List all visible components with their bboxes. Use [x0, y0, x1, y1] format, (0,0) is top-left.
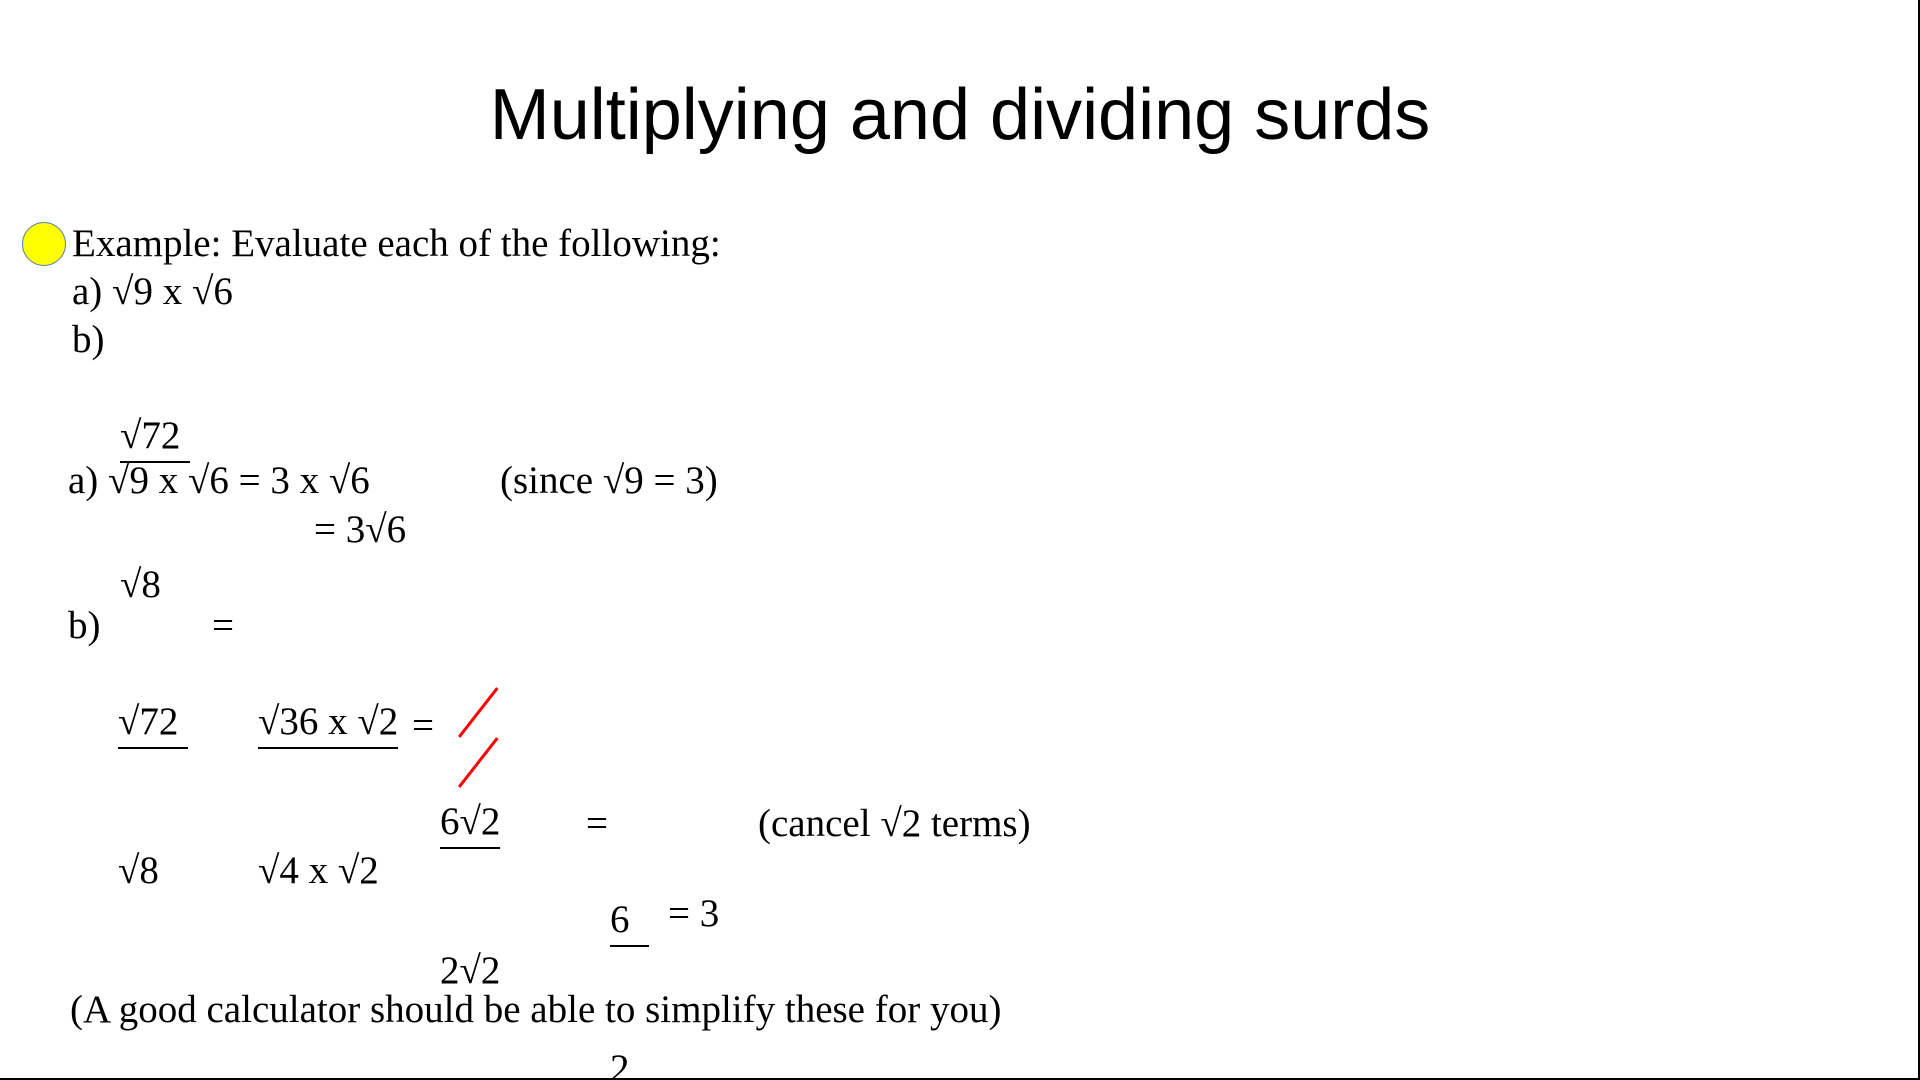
answer-b-rhs-numerator: √36 x √2 [258, 698, 398, 749]
answer-b-step3-fraction: 6 2 [610, 800, 649, 1080]
page-title: Multiplying and dividing surds [0, 72, 1920, 158]
answer-a-line1: a) √9 x √6 = 3 x √6 [68, 457, 370, 505]
answer-b-step2-equals: = [412, 702, 434, 750]
answer-b-lhs-numerator: √72 [118, 698, 188, 749]
answer-b-step3-numerator: 6 [610, 896, 649, 947]
footer-note: (A good calculator should be able to sim… [70, 986, 1001, 1034]
intro-text: Example: Evaluate each of the following: [72, 220, 721, 268]
question-b-label: b) [72, 316, 105, 364]
answer-b-label: b) [68, 602, 101, 650]
answer-a-note: (since √9 = 3) [500, 457, 718, 505]
question-a: a) √9 x √6 [72, 268, 233, 316]
answer-b-step3-denominator: 2 [610, 1043, 649, 1080]
answer-b-lhs-denominator: √8 [118, 845, 188, 895]
slide: Multiplying and dividing surds Example: … [0, 0, 1920, 1080]
answer-a-line2: = 3√6 [314, 506, 406, 554]
answer-b-equals: = [212, 602, 234, 650]
question-b-numerator: √72 [120, 412, 190, 463]
answer-b-left-fraction: √72 √8 [118, 602, 188, 991]
answer-b-step4: = 3 [668, 890, 719, 938]
bullet-circle-icon [22, 222, 66, 266]
answer-b-step3-equals: = [586, 800, 608, 848]
answer-b-step3-note: (cancel √2 terms) [758, 800, 1031, 848]
answer-b-step2-numerator: 6√2 [440, 798, 500, 849]
answer-b-right-fraction: √36 x √2 √4 x √2 [258, 602, 398, 991]
answer-b-rhs-denominator: √4 x √2 [258, 845, 398, 895]
